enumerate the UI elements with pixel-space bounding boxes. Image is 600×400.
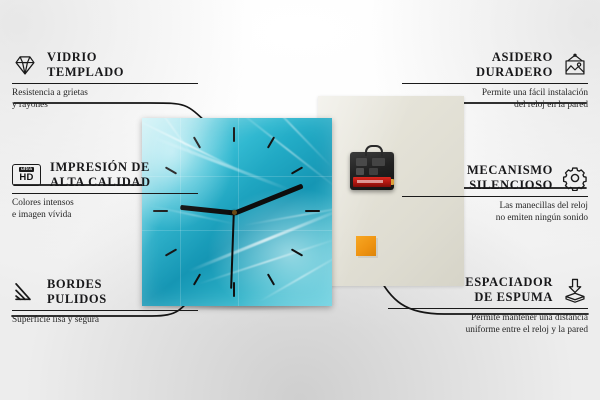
feature-title-line1: BORDES bbox=[47, 277, 107, 292]
feature-desc-line1: Superficie lisa y segura bbox=[12, 315, 198, 326]
feature-title: ASIDERO DURADERO bbox=[476, 50, 553, 79]
feature-description: Permite una fácil instalación del reloj … bbox=[402, 88, 588, 111]
feature-header: ESPACIADOR DE ESPUMA bbox=[388, 275, 588, 304]
feature-header: MECANISMO SILENCIOSO bbox=[402, 163, 588, 192]
feature-title: IMPRESIÓN DE ALTA CALIDAD bbox=[50, 160, 151, 189]
feature-desc-line2: e imagen vívida bbox=[12, 210, 198, 221]
feature-header: ultra HD IMPRESIÓN DE ALTA CALIDAD bbox=[12, 160, 198, 189]
ultra-hd-icon-bottom: HD bbox=[19, 173, 33, 183]
feature-asidero-duradero: ASIDERO DURADERO Permite una fácil insta… bbox=[402, 50, 588, 111]
feature-header: ASIDERO DURADERO bbox=[402, 50, 588, 79]
feature-impresion-alta-calidad: ultra HD IMPRESIÓN DE ALTA CALIDAD Color… bbox=[12, 160, 198, 221]
feature-description: Superficie lisa y segura bbox=[12, 315, 198, 326]
feature-description: Colores intensos e imagen vívida bbox=[12, 198, 198, 221]
feature-title-line1: IMPRESIÓN DE bbox=[50, 160, 151, 175]
feature-vidrio-templado: VIDRIO TEMPLADO Resistencia a grietas y … bbox=[12, 50, 198, 111]
feature-desc-line2: y rayones bbox=[12, 100, 198, 111]
feature-title-line2: DE ESPUMA bbox=[465, 290, 553, 305]
feature-divider bbox=[12, 193, 198, 194]
mechanism-detail bbox=[369, 168, 378, 175]
feature-header: VIDRIO TEMPLADO bbox=[12, 50, 198, 79]
feature-divider bbox=[12, 83, 198, 84]
feature-header: BORDES PULIDOS bbox=[12, 277, 198, 306]
wall-hanger-frame-icon bbox=[562, 52, 588, 78]
feature-description: Permite mantener una distancia uniforme … bbox=[388, 313, 588, 336]
foam-spacer-arrow-icon bbox=[562, 277, 588, 303]
foam-spacer bbox=[356, 236, 376, 256]
feature-title-line1: VIDRIO bbox=[47, 50, 124, 65]
mechanism-detail bbox=[356, 158, 367, 166]
hanger-hook-icon bbox=[365, 145, 383, 156]
feature-title-line2: SILENCIOSO bbox=[467, 178, 553, 193]
feature-desc-line1: Resistencia a grietas bbox=[12, 88, 198, 99]
feature-divider bbox=[402, 196, 588, 197]
feature-desc-line2: del reloj en la pared bbox=[402, 100, 588, 111]
feature-title-line1: ASIDERO bbox=[476, 50, 553, 65]
feature-description: Resistencia a grietas y rayones bbox=[12, 88, 198, 111]
feature-title: ESPACIADOR DE ESPUMA bbox=[465, 275, 553, 304]
feature-divider bbox=[12, 310, 198, 311]
feature-desc-line1: Permite mantener una distancia bbox=[388, 313, 588, 324]
clock-mechanism bbox=[350, 152, 394, 190]
feature-divider bbox=[388, 308, 588, 309]
feature-desc-line2: no emiten ningún sonido bbox=[402, 213, 588, 224]
ultra-hd-icon: ultra HD bbox=[12, 164, 41, 186]
battery-label bbox=[357, 180, 383, 183]
feature-title-line2: ALTA CALIDAD bbox=[50, 175, 151, 190]
mechanism-detail bbox=[372, 158, 385, 166]
gear-icon bbox=[562, 165, 588, 191]
feature-desc-line1: Permite una fácil instalación bbox=[402, 88, 588, 99]
polished-edges-icon bbox=[12, 279, 38, 305]
mechanism-detail bbox=[356, 168, 364, 175]
feature-title-line1: MECANISMO bbox=[467, 163, 553, 178]
feature-mecanismo-silencioso: MECANISMO SILENCIOSO Las manecillas del … bbox=[402, 163, 588, 224]
feature-title-line2: PULIDOS bbox=[47, 292, 107, 307]
infographic-canvas: VIDRIO TEMPLADO Resistencia a grietas y … bbox=[0, 0, 600, 400]
feature-title-line2: DURADERO bbox=[476, 65, 553, 80]
diamond-icon bbox=[12, 52, 38, 78]
feature-title: MECANISMO SILENCIOSO bbox=[467, 163, 553, 192]
feature-desc-line1: Las manecillas del reloj bbox=[402, 201, 588, 212]
feature-title: VIDRIO TEMPLADO bbox=[47, 50, 124, 79]
feature-bordes-pulidos: BORDES PULIDOS Superficie lisa y segura bbox=[12, 277, 198, 327]
feature-divider bbox=[402, 83, 588, 84]
feature-desc-line2: uniforme entre el reloj y la pared bbox=[388, 325, 588, 336]
feature-title: BORDES PULIDOS bbox=[47, 277, 107, 306]
aa-battery bbox=[353, 177, 391, 187]
feature-espaciador-de-espuma: ESPACIADOR DE ESPUMA Permite mantener un… bbox=[388, 275, 588, 336]
feature-description: Las manecillas del reloj no emiten ningú… bbox=[402, 201, 588, 224]
feature-title-line2: TEMPLADO bbox=[47, 65, 124, 80]
feature-desc-line1: Colores intensos bbox=[12, 198, 198, 209]
feature-title-line1: ESPACIADOR bbox=[465, 275, 553, 290]
